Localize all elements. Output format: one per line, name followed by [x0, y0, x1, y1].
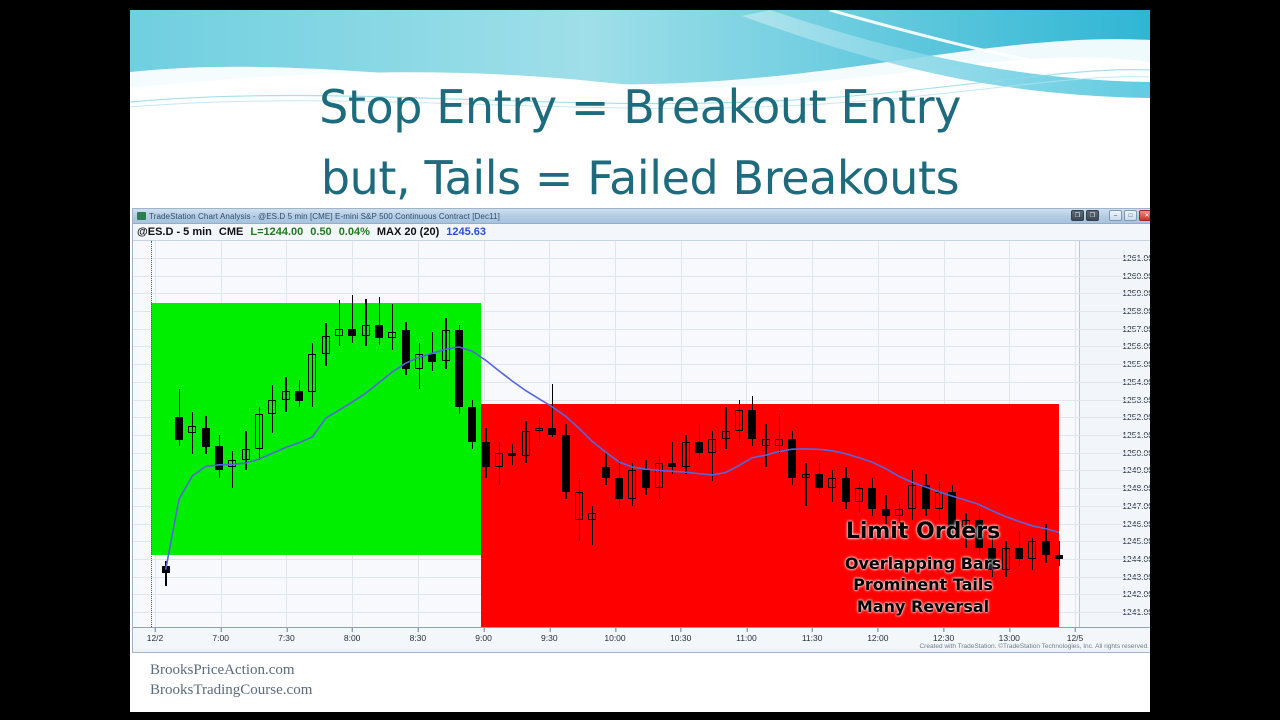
candle-wick	[779, 414, 780, 453]
time-axis-tick: 9:00	[475, 633, 492, 643]
candle-body	[842, 478, 850, 503]
candle-body	[202, 428, 210, 447]
candle-body	[602, 467, 610, 478]
last-price: L=1244.00	[250, 226, 303, 238]
candle-body	[935, 492, 943, 510]
time-axis-tick: 12:00	[867, 633, 888, 643]
candle-body	[215, 446, 223, 471]
candle-body	[522, 431, 530, 456]
candle-body	[735, 410, 743, 431]
candle-wick	[592, 506, 593, 545]
screen: Stop Entry = Breakout Entry but, Tails =…	[0, 0, 1280, 720]
limit-sub-line-1: Overlapping Bars	[773, 553, 1073, 574]
time-axis-tick: 7:00	[212, 633, 229, 643]
tradestation-credit: Created with TradeStation. ©TradeStation…	[919, 643, 1149, 650]
limit-orders-label: Limit Orders	[773, 519, 1073, 544]
candle-body	[308, 354, 316, 393]
candle-body	[615, 478, 623, 499]
candle-body	[668, 463, 676, 467]
candle-body	[535, 428, 543, 432]
candle-body	[508, 453, 516, 457]
title-line-2: but, Tails = Failed Breakouts	[130, 143, 1150, 214]
candle-body	[695, 442, 703, 453]
candle-wick	[339, 300, 340, 346]
candle-wick	[192, 412, 193, 455]
footer-link-1[interactable]: BrooksPriceAction.com	[150, 660, 312, 680]
candle-body	[322, 336, 330, 354]
candle-wick	[672, 442, 673, 474]
candle-body	[348, 329, 356, 336]
presentation-slide: Stop Entry = Breakout Entry but, Tails =…	[130, 10, 1150, 712]
indicator-label: MAX 20 (20)	[377, 226, 439, 238]
candle-body	[682, 442, 690, 467]
symbol-label: @ES.D - 5 min	[137, 226, 212, 238]
time-axis-tick: 9:30	[541, 633, 558, 643]
candle-body	[428, 354, 436, 363]
candle-body	[828, 478, 836, 489]
candle-body	[802, 474, 810, 478]
price-change-pct: 0.04%	[339, 226, 370, 238]
candle-body	[908, 485, 916, 510]
candle-wick	[365, 299, 366, 347]
candle-body	[255, 414, 263, 449]
candle-body	[468, 407, 476, 442]
candle-body	[655, 463, 663, 488]
candle-wick	[805, 463, 806, 506]
candle-body	[708, 439, 716, 453]
time-axis-tick: 11:30	[802, 633, 823, 643]
candle-body	[868, 488, 876, 509]
time-axis-tick: 8:30	[410, 633, 427, 643]
candle-body	[775, 439, 783, 446]
indicator-value: 1245.63	[446, 226, 486, 238]
candle-body	[855, 488, 863, 502]
time-axis-tick: 8:00	[344, 633, 361, 643]
candle-wick	[765, 424, 766, 467]
time-axis-tick: 12:30	[933, 633, 954, 643]
crosshair-line	[151, 241, 152, 627]
time-axis-tick: 7:30	[278, 633, 295, 643]
candle-body	[268, 400, 276, 414]
candle-body	[282, 391, 290, 400]
candle-wick	[432, 332, 433, 371]
candle-body	[362, 325, 370, 336]
candle-body	[455, 330, 463, 406]
footer-link-2[interactable]: BrooksTradingCourse.com	[150, 680, 312, 700]
candle-body	[815, 474, 823, 488]
candle-body	[482, 442, 490, 467]
candle-body	[562, 435, 570, 492]
time-axis-tick: 13:00	[999, 633, 1020, 643]
candle-body	[642, 470, 650, 488]
candle-body	[628, 470, 636, 498]
time-axis-tick: 11:00	[736, 633, 757, 643]
candle-body	[748, 410, 756, 438]
limit-sub-line-3: Many Reversal	[773, 596, 1073, 617]
candle-body	[895, 509, 903, 516]
candle-body	[375, 325, 383, 337]
candle-wick	[725, 407, 726, 450]
time-axis-tick: 10:00	[604, 633, 625, 643]
candle-body	[882, 509, 890, 516]
price-change: 0.50	[310, 226, 331, 238]
candle-body	[762, 439, 770, 446]
time-axis-tick: 10:30	[670, 633, 691, 643]
title-line-1: Stop Entry = Breakout Entry	[130, 72, 1150, 143]
chart-info-bar: @ES.D - 5 min CME L=1244.00 0.50 0.04% M…	[133, 224, 1150, 241]
limit-sub-line-2: Prominent Tails	[773, 574, 1073, 595]
candle-body	[295, 391, 303, 402]
candle-body	[548, 428, 556, 435]
candle-wick	[165, 561, 166, 586]
candle-body	[415, 354, 423, 370]
candle-body	[402, 330, 410, 369]
candle-body	[575, 492, 583, 520]
time-axis-tick: 12/2	[147, 633, 164, 643]
time-axis-tick: 12/5	[1067, 633, 1084, 643]
candle-body	[228, 460, 236, 467]
candle-body	[175, 417, 183, 440]
candle-body	[335, 329, 343, 336]
candle-body	[495, 453, 503, 467]
candle-body	[162, 566, 170, 573]
limit-orders-sublabel: Overlapping BarsProminent TailsMany Reve…	[773, 553, 1073, 617]
exchange-label: CME	[219, 226, 243, 238]
footer-links: BrooksPriceAction.com BrooksTradingCours…	[150, 660, 312, 701]
candle-wick	[232, 451, 233, 488]
candle-body	[788, 439, 796, 478]
candle-body	[722, 431, 730, 438]
candle-body	[442, 330, 450, 360]
slide-title: Stop Entry = Breakout Entry but, Tails =…	[130, 72, 1150, 215]
candle-body	[188, 426, 196, 433]
candle-body	[588, 513, 596, 520]
candle-body	[388, 332, 396, 337]
candle-body	[922, 485, 930, 510]
tradestation-window: TradeStation Chart Analysis - @ES.D 5 mi…	[132, 208, 1150, 653]
chart-plot-area[interactable]: 1261.001260.001259.001258.001257.001256.…	[133, 241, 1150, 627]
candle-body	[242, 449, 250, 460]
candle-wick	[392, 304, 393, 350]
